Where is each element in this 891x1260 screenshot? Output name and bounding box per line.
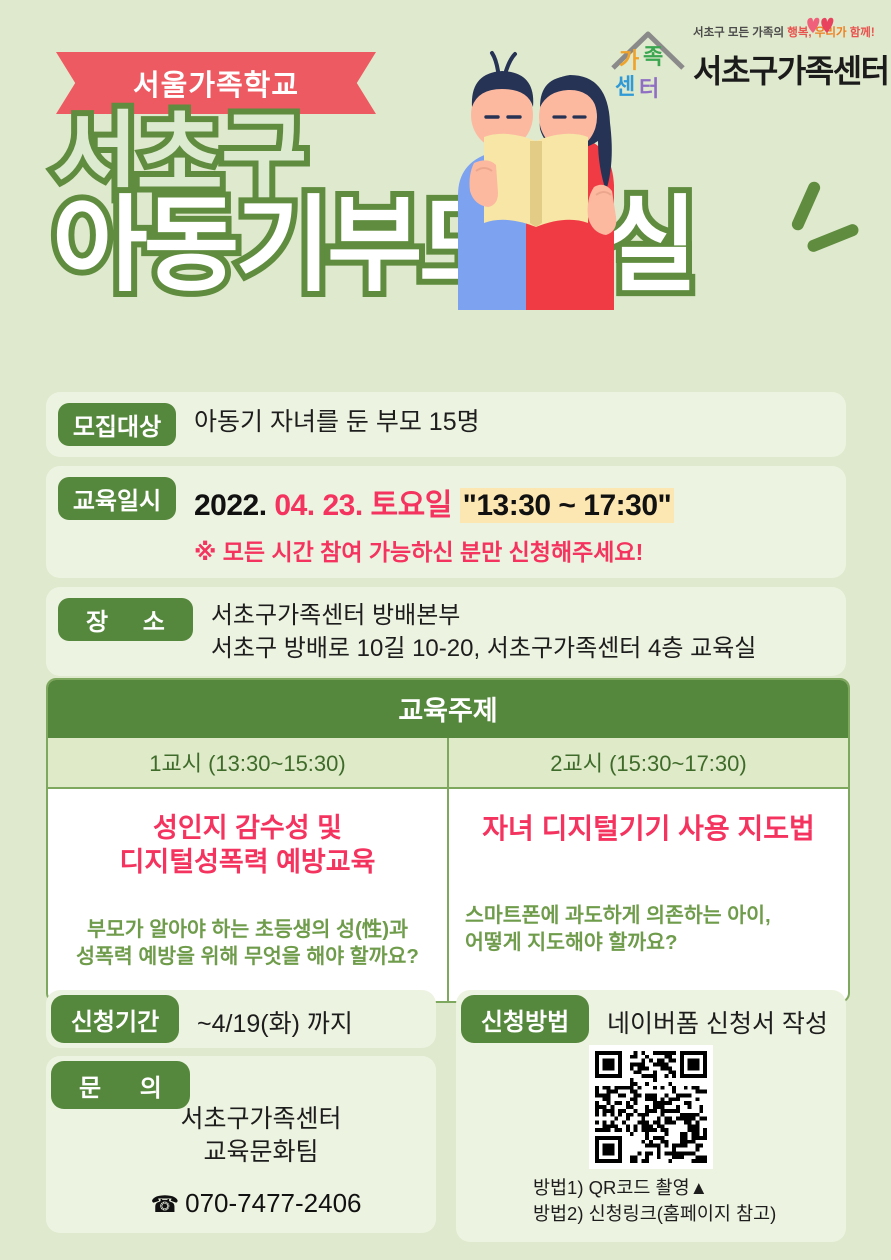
place-line-2: 서초구 방배로 10길 10-20, 서초구가족센터 4층 교육실: [211, 632, 832, 665]
svg-text:터: 터: [639, 76, 659, 101]
poster-root: 서울가족학교 서초구 아동기부모교실: [0, 0, 891, 1260]
phone-number: 070-7477-2406: [185, 1188, 361, 1218]
telephone-icon: ☎: [150, 1191, 179, 1217]
application-method-card: 신청방법 네이버폼 신청서 작성 방법1) QR코드 촬영▲ 방법2) 신청링크…: [456, 990, 846, 1242]
contact-card: 문 의 서초구가족센터 교육문화팀 ☎070-7477-2406: [46, 1056, 436, 1233]
label-application-period: 신청기간: [51, 995, 179, 1043]
info-row-target: 모집대상 아동기 자녀를 둔 부모 15명: [46, 392, 846, 457]
table-period-1: 1교시 (13:30~15:30): [48, 738, 449, 787]
desc-1-line-2: 성폭력 예방을 위해 무엇을 해야 할까요?: [60, 943, 435, 971]
heart-icon: [805, 16, 835, 39]
date-time-range: "13:30 ~ 17:30": [460, 488, 675, 523]
logo-name: 서초구가족센터: [693, 46, 889, 92]
topic-1-line-1: 성인지 감수성 및: [60, 811, 435, 845]
desc-1-line-1: 부모가 알아야 하는 초등생의 성(性)과: [60, 916, 435, 944]
svg-text:가: 가: [619, 48, 639, 73]
desc-2-line-1: 스마트폰에 과도하게 의존하는 아이,: [465, 902, 836, 930]
topic-2-line-1: 자녀 디지털기기 사용 지도법: [461, 811, 836, 846]
table-subheader-row: 1교시 (13:30~15:30) 2교시 (15:30~17:30): [48, 738, 848, 789]
info-row-datetime: 교육일시 2022. 04. 23. 토요일 "13:30 ~ 17:30" ※…: [46, 466, 846, 578]
svg-text:족: 족: [643, 44, 663, 69]
application-notes: 방법1) QR코드 촬영▲ 방법2) 신청링크(홈페이지 참고): [461, 1175, 841, 1228]
date-year: 2022.: [194, 489, 267, 522]
value-recruit-target: 아동기 자녀를 둔 부모 15명: [194, 406, 832, 439]
table-cell-period-1: 성인지 감수성 및 디지털성폭력 예방교육 부모가 알아야 하는 초등생의 성(…: [48, 789, 449, 1001]
curriculum-table: 교육주제 1교시 (13:30~15:30) 2교시 (15:30~17:30)…: [46, 678, 850, 1003]
label-application-method: 신청방법: [461, 995, 589, 1043]
value-application-period: ~4/19(화) 까지: [179, 995, 353, 1040]
topic-2: 자녀 디지털기기 사용 지도법: [461, 811, 836, 846]
contact-phone: ☎070-7477-2406: [51, 1188, 431, 1219]
date-month-day: 04. 23. 토요일: [267, 489, 460, 522]
info-row-place: 장 소 서초구가족센터 방배본부 서초구 방배로 10길 10-20, 서초구가…: [46, 587, 846, 676]
logo-tagline: 서초구 모든 가족의 행복, 우리가 함께!: [693, 24, 875, 40]
topic-1-line-2: 디지털성폭력 예방교육: [60, 845, 435, 879]
title-line-2: 아동기부모교실: [52, 196, 812, 298]
label-education-datetime: 교육일시: [58, 477, 176, 520]
value-education-datetime: 2022. 04. 23. 토요일 "13:30 ~ 17:30": [194, 480, 832, 524]
desc-2-line-2: 어떻게 지도해야 할까요?: [465, 929, 836, 957]
datetime-note: ※ 모든 시간 참여 가능하신 분만 신청해주세요!: [194, 533, 832, 567]
house-roof-icon: 가 족 센 터: [607, 24, 689, 106]
label-place: 장 소: [58, 598, 193, 641]
desc-2: 스마트폰에 과도하게 의존하는 아이, 어떻게 지도해야 할까요?: [461, 902, 836, 985]
desc-1: 부모가 알아야 하는 초등생의 성(性)과 성폭력 예방을 위해 무엇을 해야 …: [60, 916, 435, 985]
application-period-card: 신청기간 ~4/19(화) 까지: [46, 990, 436, 1048]
info-section: 모집대상 아동기 자녀를 둔 부모 15명 교육일시 2022. 04. 23.…: [46, 392, 846, 685]
table-cell-period-2: 자녀 디지털기기 사용 지도법 스마트폰에 과도하게 의존하는 아이, 어떻게 …: [449, 789, 848, 1001]
qr-code[interactable]: [589, 1045, 713, 1169]
bottom-section: 신청기간 ~4/19(화) 까지 문 의 서초구가족센터 교육문화팀 ☎070-…: [46, 990, 846, 1242]
label-contact: 문 의: [51, 1061, 190, 1109]
place-line-1: 서초구가족센터 방배본부: [211, 599, 832, 632]
label-recruit-target: 모집대상: [58, 403, 176, 446]
apply-note-2: 방법2) 신청링크(홈페이지 참고): [533, 1201, 841, 1227]
tagline-part-4: 함께!: [847, 27, 875, 39]
table-body-row: 성인지 감수성 및 디지털성폭력 예방교육 부모가 알아야 하는 초등생의 성(…: [48, 789, 848, 1001]
decorative-dash-2: [806, 222, 861, 253]
contact-org: 서초구가족센터 교육문화팀: [51, 1103, 431, 1168]
bottom-left-column: 신청기간 ~4/19(화) 까지 문 의 서초구가족센터 교육문화팀 ☎070-…: [46, 990, 436, 1242]
bottom-right-column: 신청방법 네이버폼 신청서 작성 방법1) QR코드 촬영▲ 방법2) 신청링크…: [456, 990, 846, 1242]
poster-title: 서초구 아동기부모교실: [52, 110, 812, 298]
center-logo: 가 족 센 터 서초구 모든 가족의 행복, 우리가 함께! 서초구가족센터: [607, 18, 869, 110]
table-period-2: 2교시 (15:30~17:30): [449, 738, 848, 787]
apply-note-1: 방법1) QR코드 촬영▲: [533, 1175, 841, 1201]
tagline-part-1: 서초구 모든 가족의: [693, 27, 787, 39]
value-application-method: 네이버폼 신청서 작성: [589, 995, 828, 1040]
poster-header: 서울가족학교 서초구 아동기부모교실: [0, 0, 891, 380]
topic-1: 성인지 감수성 및 디지털성폭력 예방교육: [60, 811, 435, 879]
qr-code-wrap: [461, 1045, 841, 1169]
contact-line-2: 교육문화팀: [91, 1136, 431, 1169]
svg-text:센: 센: [615, 74, 635, 99]
table-header: 교육주제: [48, 680, 848, 738]
